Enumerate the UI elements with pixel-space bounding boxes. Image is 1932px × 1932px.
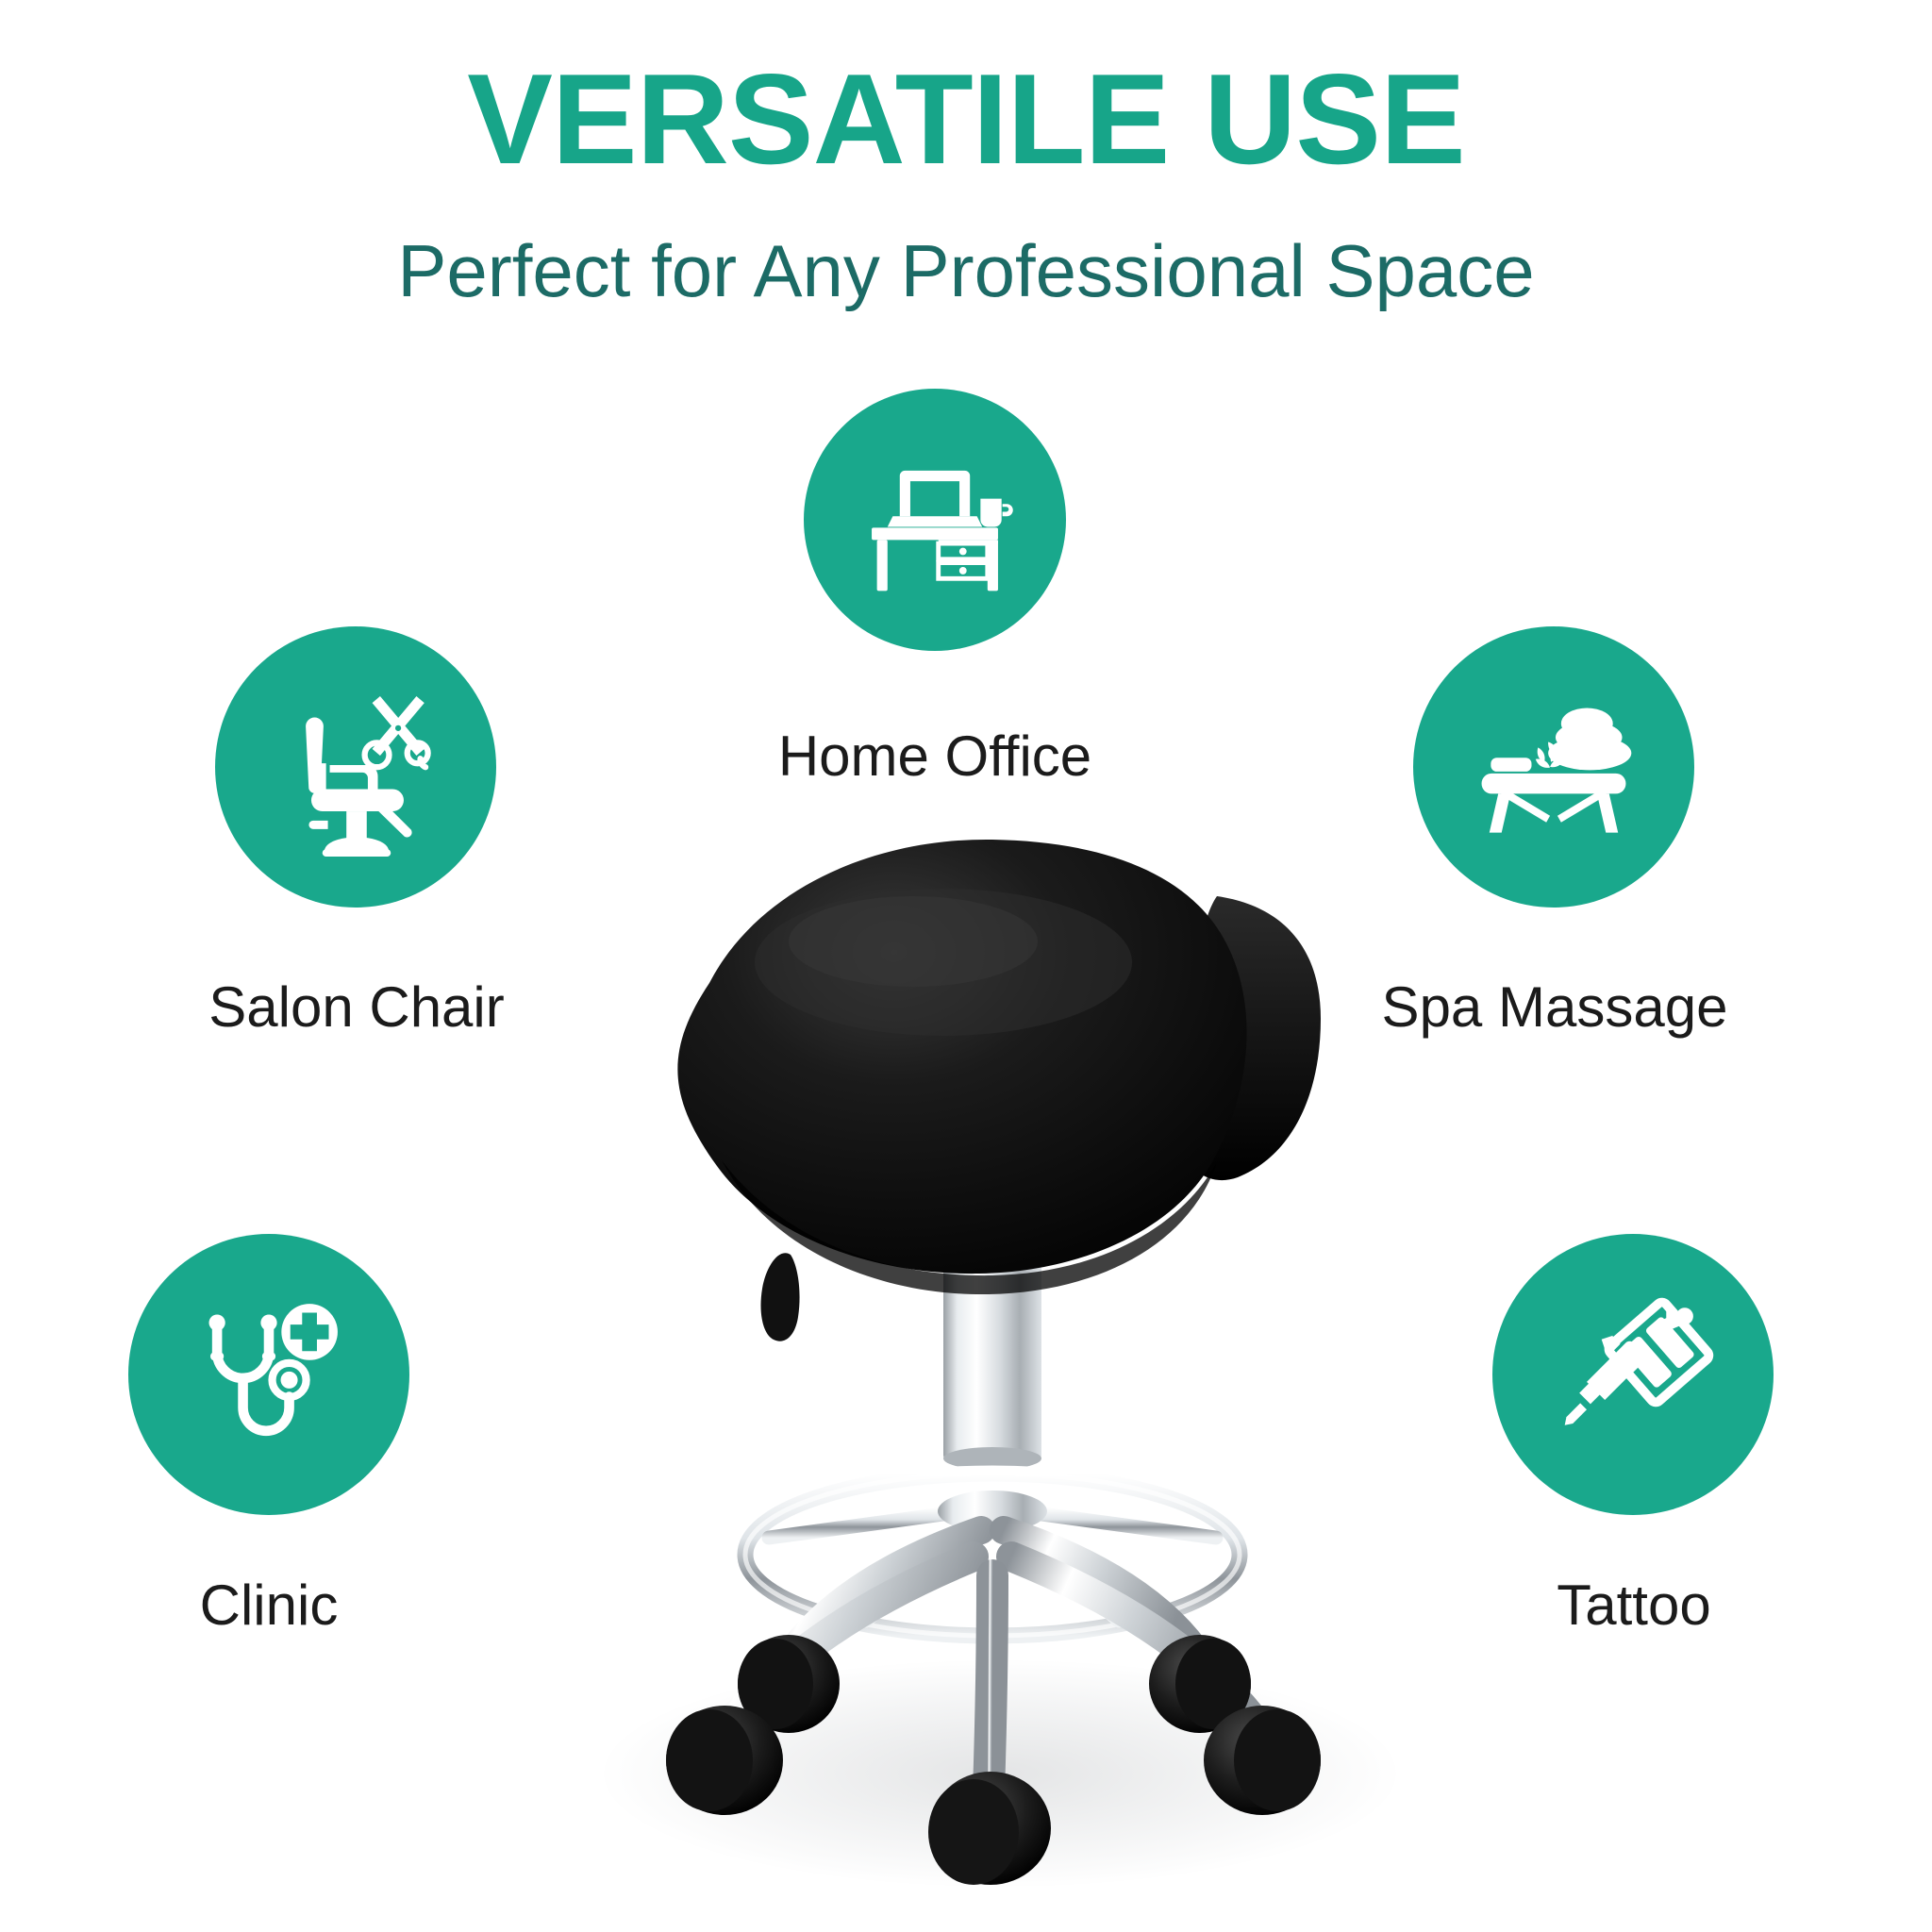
- desk-laptop-icon: [847, 432, 1023, 608]
- feature-label-clinic: Clinic: [0, 1577, 552, 1634]
- salon-chair-icon-circle: [215, 626, 496, 908]
- tattoo-icon-circle: [1492, 1234, 1774, 1515]
- massage-table-stones-icon: [1461, 675, 1646, 859]
- barber-chair-scissors-icon: [263, 675, 448, 859]
- tattoo-machine-icon: [1541, 1282, 1725, 1467]
- home-office-icon-circle: [804, 389, 1066, 651]
- page-subtitle: Perfect for Any Professional Space: [0, 234, 1932, 308]
- spa-massage-icon-circle: [1413, 626, 1694, 908]
- stethoscope-cross-icon: [176, 1282, 361, 1467]
- feature-label-tattoo: Tattoo: [1351, 1577, 1917, 1634]
- product-photo-saddle-stool: [566, 783, 1415, 1896]
- feature-label-home-office: Home Office: [615, 728, 1255, 785]
- feature-label-salon-chair: Salon Chair: [74, 979, 640, 1036]
- infographic-canvas: VERSATILE USE Perfect for Any Profession…: [0, 0, 1932, 1932]
- clinic-icon-circle: [128, 1234, 409, 1515]
- feature-label-spa-massage: Spa Massage: [1272, 979, 1838, 1036]
- page-title: VERSATILE USE: [0, 55, 1932, 183]
